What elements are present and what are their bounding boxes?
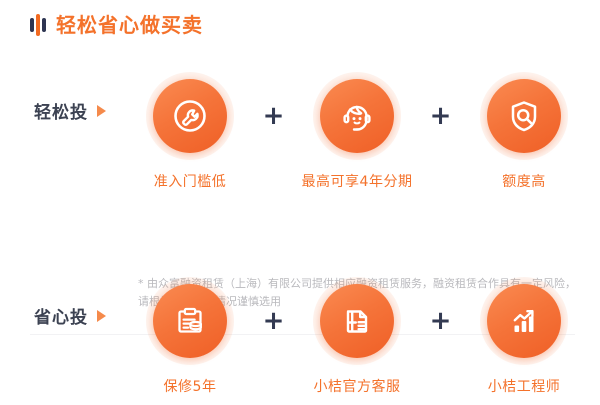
feature-caption: 小桔官方客服 — [314, 376, 401, 396]
icon-badge — [480, 72, 568, 160]
play-triangle-icon — [97, 310, 106, 322]
page-title-text: 轻松省心做买卖 — [56, 14, 203, 36]
promo-page: 轻松省心做买卖 轻松投 准入门槛低 + — [0, 0, 600, 405]
feature-item[interactable]: 小桔官方客服 — [302, 277, 412, 396]
section-label-group-2: 省心投 — [34, 303, 106, 328]
feature-item[interactable]: 额度高 — [469, 72, 579, 191]
feature-caption: 最高可享4年分期 — [302, 171, 413, 191]
wrench-circle-icon — [153, 79, 227, 153]
feature-item[interactable]: 准入门槛低 — [135, 72, 245, 191]
document-lines-icon — [320, 284, 394, 358]
play-triangle-icon — [97, 105, 106, 117]
plus-separator: + — [245, 277, 302, 365]
bar-mark-icon — [30, 14, 46, 36]
feature-item[interactable]: 小桔工程师 — [469, 277, 579, 396]
icon-badge — [480, 277, 568, 365]
feature-caption: 额度高 — [502, 171, 546, 191]
plus-separator: + — [245, 72, 302, 160]
bar-chart-growth-icon — [487, 284, 561, 358]
feature-caption: 小桔工程师 — [488, 376, 561, 396]
section-label-1: 轻松投 — [34, 98, 88, 123]
feature-item[interactable]: 最高可享4年分期 — [302, 72, 412, 191]
feature-caption: 保修5年 — [164, 376, 217, 396]
feature-caption: 准入门槛低 — [154, 171, 227, 191]
plus-separator: + — [412, 72, 469, 160]
icon-badge — [313, 72, 401, 160]
feature-item[interactable]: 保修5年 — [135, 277, 245, 396]
clipboard-coins-icon — [153, 284, 227, 358]
feature-list-2: 保修5年 + — [135, 277, 590, 396]
feature-list-1: 准入门槛低 + — [135, 72, 590, 191]
section-label-group-1: 轻松投 — [34, 98, 106, 123]
icon-badge — [146, 72, 234, 160]
icon-badge — [313, 277, 401, 365]
section-label-2: 省心投 — [34, 303, 88, 328]
shield-search-icon — [487, 79, 561, 153]
headset-support-icon — [320, 79, 394, 153]
plus-separator: + — [412, 277, 469, 365]
icon-badge — [146, 277, 234, 365]
page-title: 轻松省心做买卖 — [30, 14, 203, 36]
